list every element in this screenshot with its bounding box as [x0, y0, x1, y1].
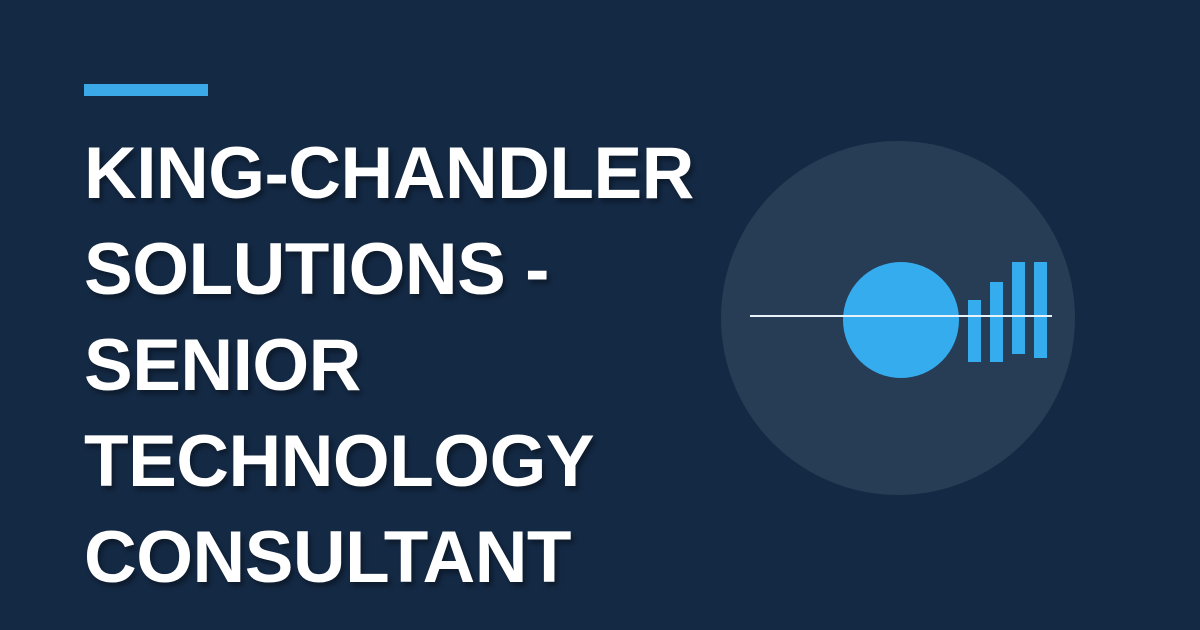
content-block: King-Chandler Solutions - Senior Technol… [84, 84, 784, 606]
accent-rule [84, 84, 208, 96]
axis-line [750, 315, 1052, 317]
chart-bar-4 [1034, 262, 1047, 358]
chart-bar-2 [990, 282, 1003, 362]
chart-bar-1 [968, 300, 981, 362]
bar-chart-icon [968, 262, 1058, 362]
accent-circle-shape [843, 262, 959, 378]
page-title: King-Chandler Solutions - Senior Technol… [84, 126, 784, 606]
chart-bar-3 [1012, 262, 1025, 354]
banner-canvas: King-Chandler Solutions - Senior Technol… [0, 0, 1200, 630]
